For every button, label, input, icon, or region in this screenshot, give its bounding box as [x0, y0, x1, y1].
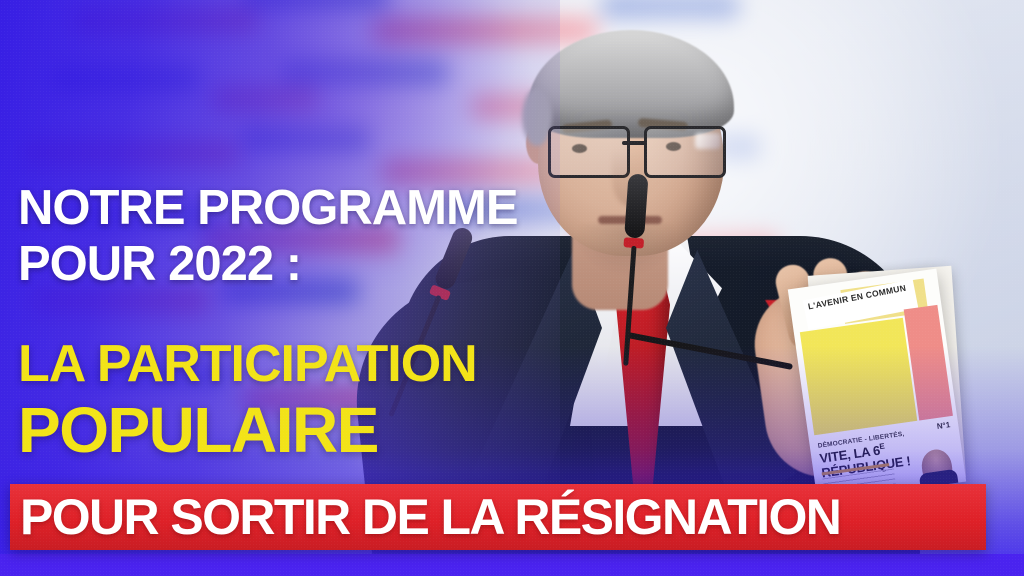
headline-line-1: NOTRE PROGRAMME	[18, 184, 518, 233]
headline-line-3: LA PARTICIPATION	[18, 338, 477, 390]
bottom-color-strip	[0, 554, 1024, 576]
headline-line-2: POUR 2022 :	[18, 240, 301, 289]
glasses-bridge	[622, 141, 646, 145]
headline-line-4: POPULAIRE	[18, 398, 378, 462]
headline-line-5: POUR SORTIR DE LA RÉSIGNATION	[20, 492, 840, 542]
lens-right	[644, 126, 726, 178]
thumbnail-canvas: L'AVENIR EN COMMUN N°1 DÉMOCRATIE - LIBE…	[0, 0, 1024, 576]
